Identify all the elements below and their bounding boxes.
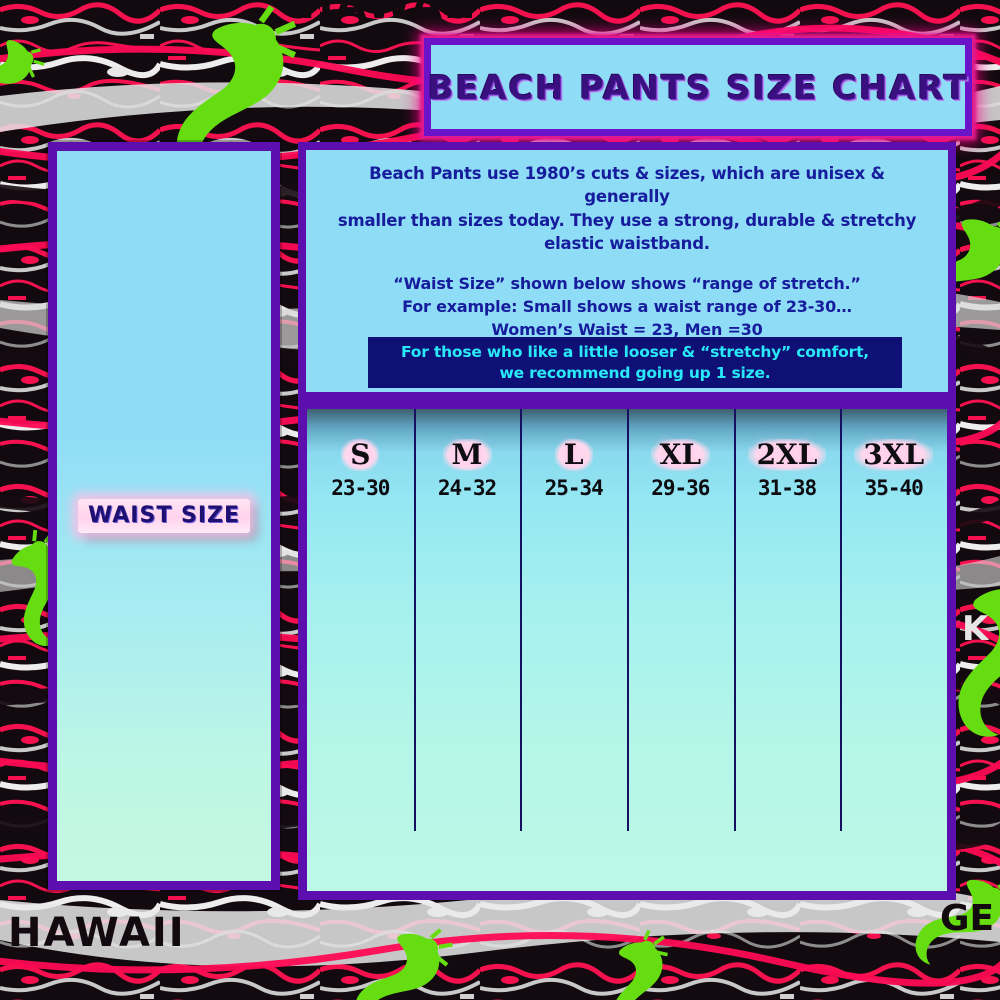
waist-size-label: WAIST SIZE xyxy=(78,499,250,533)
recommendation-banner: For those who like a little looser & “st… xyxy=(368,337,902,388)
waist-range-s: 23-30 xyxy=(331,476,389,500)
size-column-2xl: 2XL 31-38 xyxy=(734,409,841,891)
size-table-columns: S 23-30 M 24-32 L 25-34 XL 29-36 2XL 31-… xyxy=(307,409,947,891)
page-title: BEACH PANTS SIZE CHART xyxy=(427,68,968,107)
size-column-3xl: 3XL 35-40 xyxy=(840,409,947,891)
waist-range-m: 24-32 xyxy=(438,476,496,500)
info-spacer xyxy=(324,256,930,272)
info-paragraph-1-line-1: Beach Pants use 1980’s cuts & sizes, whi… xyxy=(324,162,930,209)
size-column-s: S 23-30 xyxy=(307,409,414,891)
info-paragraph-1-line-3: elastic waistband. xyxy=(324,232,930,255)
chart-title-box: BEACH PANTS SIZE CHART xyxy=(424,38,972,136)
waist-size-row-header-panel: WAIST SIZE xyxy=(48,142,280,890)
waist-range-l: 25-34 xyxy=(545,476,603,500)
size-label-s: S xyxy=(341,439,379,471)
svg-text:HAWAII: HAWAII xyxy=(300,0,478,28)
waist-range-xl: 29-36 xyxy=(651,476,709,500)
size-column-xl: XL 29-36 xyxy=(627,409,734,891)
size-label-3xl: 3XL xyxy=(854,439,933,471)
svg-text:K: K xyxy=(962,609,990,649)
recommendation-line-1: For those who like a little looser & “st… xyxy=(401,342,869,363)
recommendation-line-2: we recommend going up 1 size. xyxy=(499,363,770,384)
info-paragraph-2-line-2: For example: Small shows a waist range o… xyxy=(324,295,930,318)
svg-text:HAWAII: HAWAII xyxy=(8,910,186,956)
size-label-m: M xyxy=(443,439,492,471)
size-label-2xl: 2XL xyxy=(748,439,827,471)
info-paragraph-1-line-2: smaller than sizes today. They use a str… xyxy=(324,209,930,232)
size-column-l: L 25-34 xyxy=(520,409,627,891)
waist-range-2xl: 31-38 xyxy=(758,476,816,500)
svg-text:GE: GE xyxy=(940,898,994,939)
size-column-m: M 24-32 xyxy=(414,409,521,891)
size-table-panel: S 23-30 M 24-32 L 25-34 XL 29-36 2XL 31-… xyxy=(298,400,956,900)
size-label-xl: XL xyxy=(651,439,710,471)
waist-range-3xl: 35-40 xyxy=(865,476,923,500)
size-label-l: L xyxy=(555,439,593,471)
info-paragraph-2-line-1: “Waist Size” shown below shows “range of… xyxy=(324,272,930,295)
